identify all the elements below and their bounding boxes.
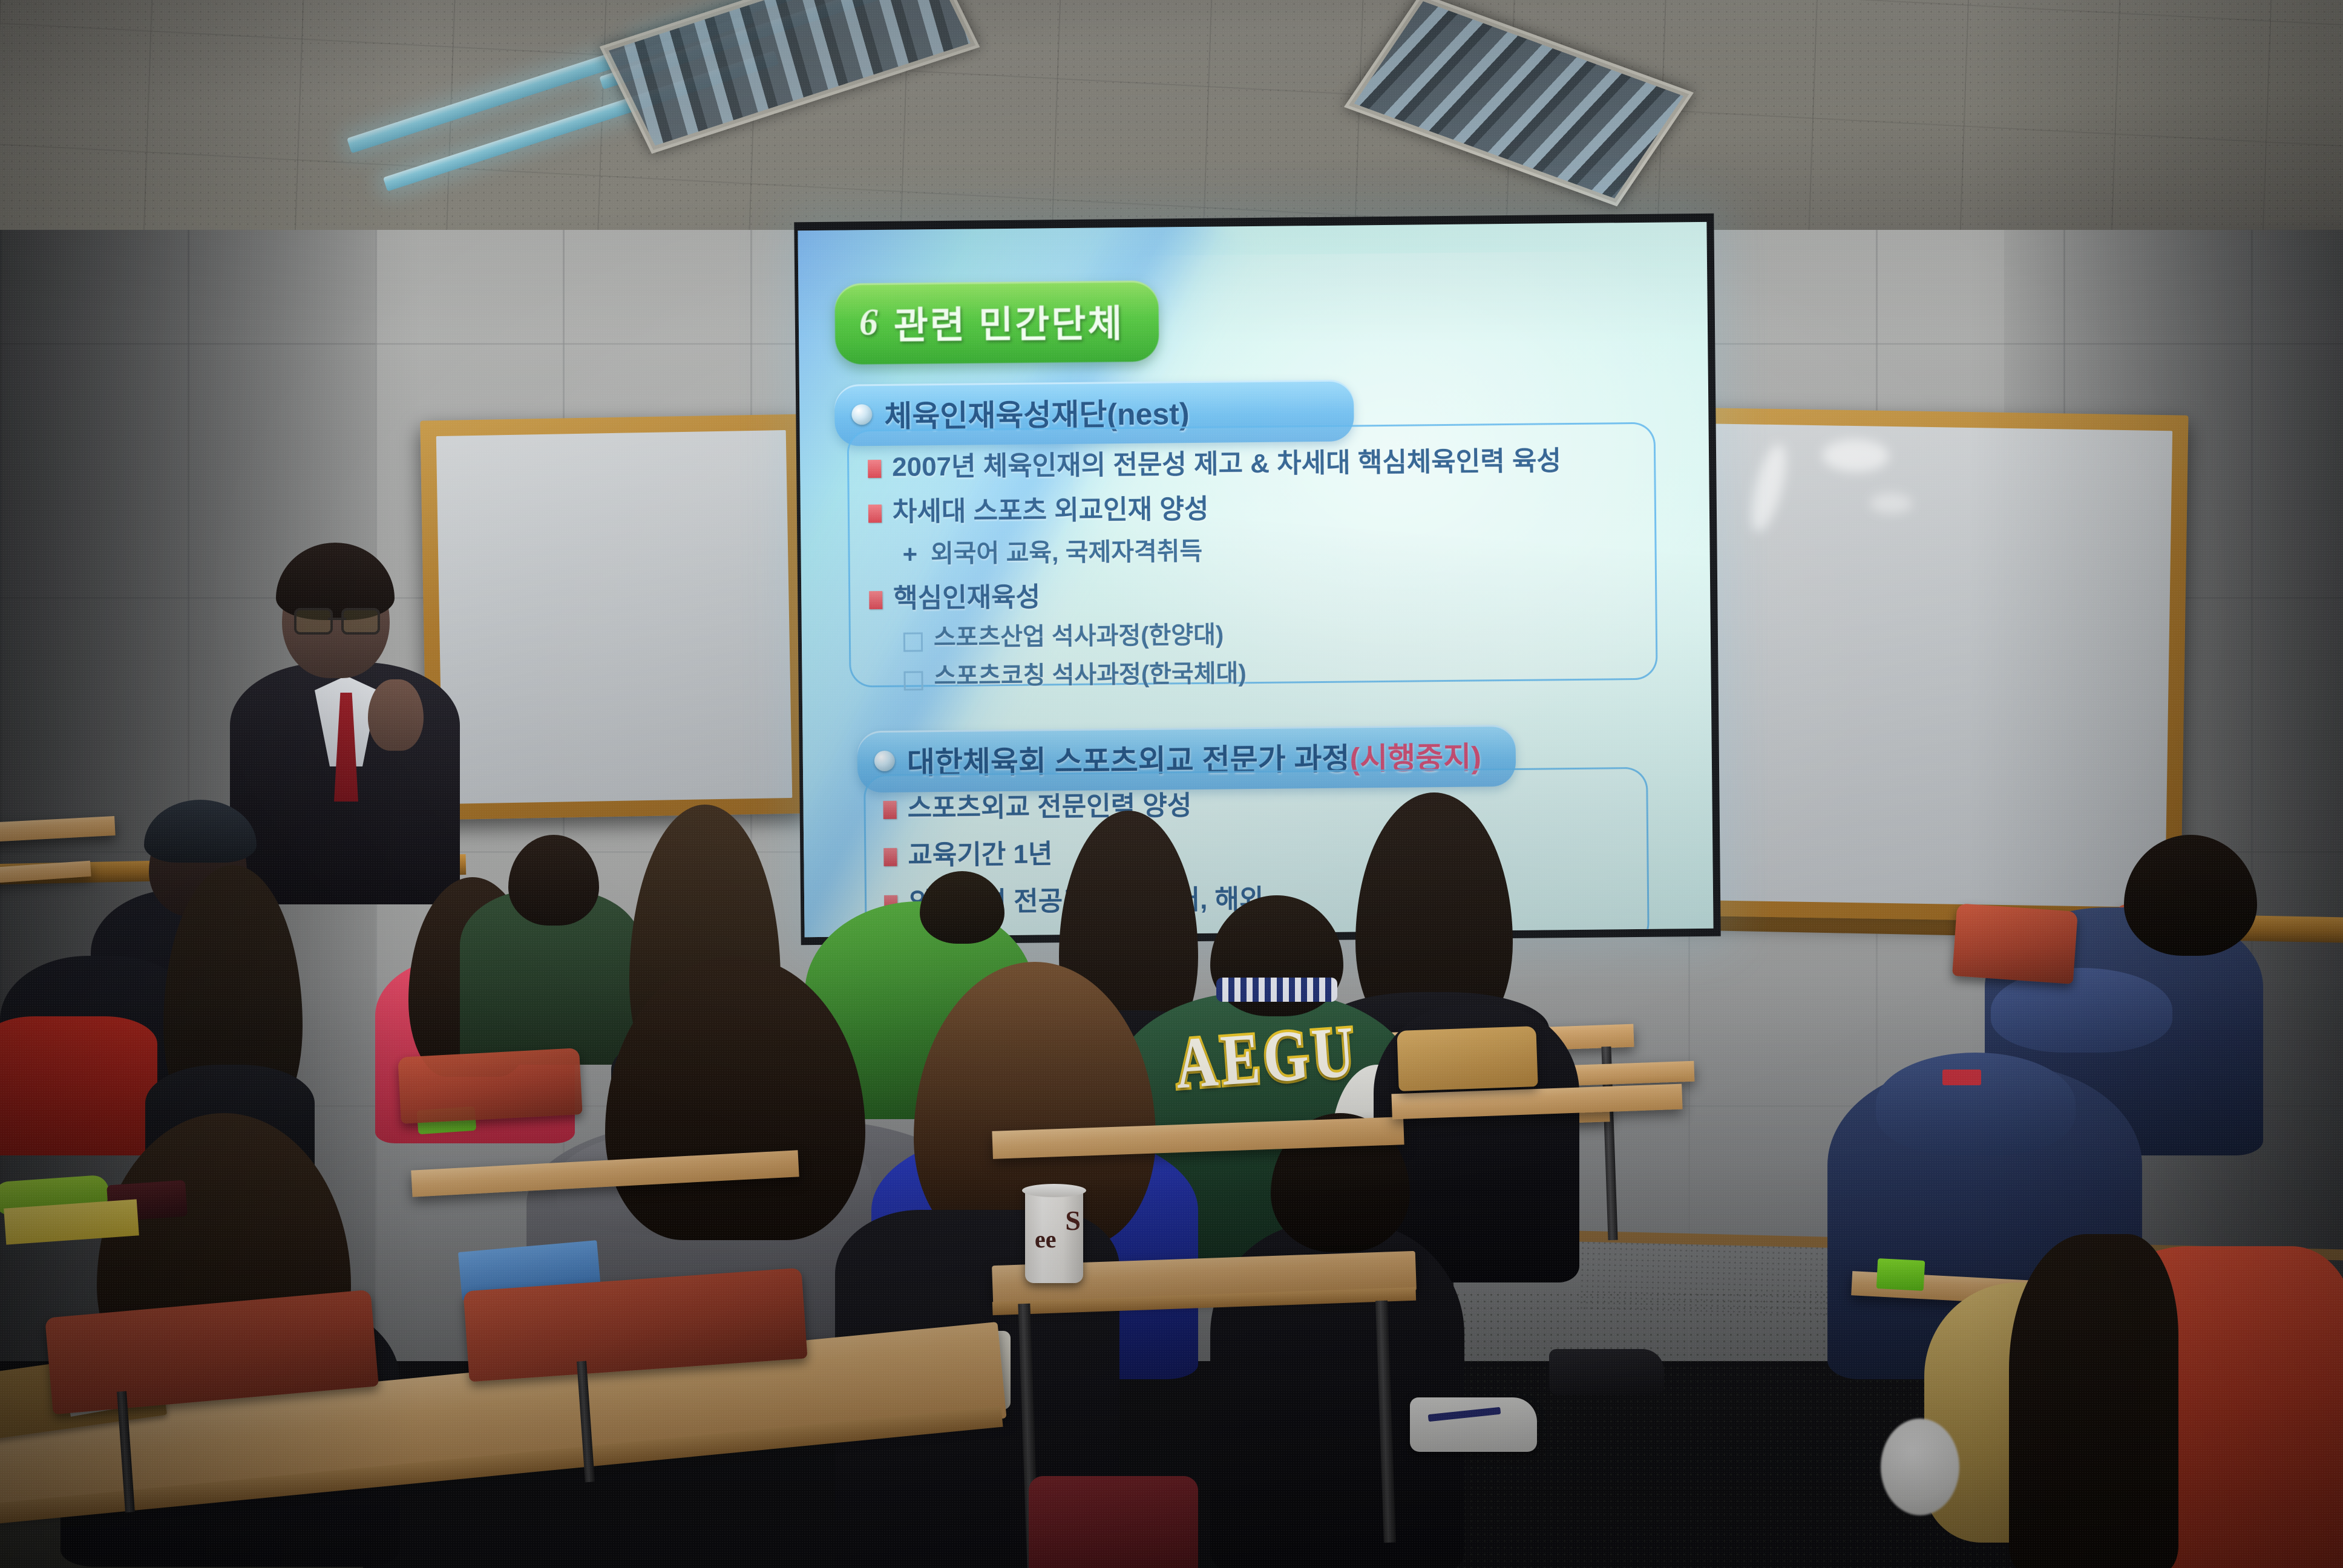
presenter-hand bbox=[368, 679, 424, 751]
student-head bbox=[920, 871, 1004, 944]
eyeglass-lens-left bbox=[294, 608, 333, 635]
whiteboard-glare bbox=[1870, 492, 1913, 514]
checkbox-text: 스포츠코칭 석사과정(한국체대) bbox=[934, 659, 1247, 690]
eyeglasses-icon bbox=[294, 608, 380, 630]
coffee-cup: ee S bbox=[1025, 1187, 1083, 1283]
green-notebook bbox=[1876, 1258, 1925, 1291]
checkbox-icon bbox=[903, 632, 923, 652]
student-jacket bbox=[0, 1016, 157, 1155]
student-head bbox=[2124, 835, 2257, 956]
slide-content: 6 관련 민간단체 체육인재육성재단(nest) 2007년 체육인재의 전문성… bbox=[798, 222, 1713, 937]
eyeglass-bridge bbox=[328, 618, 346, 620]
whiteboard-left bbox=[420, 414, 808, 820]
bullet-text: 차세대 스포츠 외교인재 양성 bbox=[893, 494, 1209, 528]
plus-marker: + bbox=[902, 540, 917, 569]
projected-slide: 6 관련 민간단체 체육인재육성재단(nest) 2007년 체육인재의 전문성… bbox=[798, 222, 1713, 937]
bullet-square-icon bbox=[868, 505, 882, 523]
varsity-collar bbox=[1216, 978, 1337, 1002]
pom-pom bbox=[1881, 1419, 1959, 1515]
projection-screen: 6 관련 민간단체 체육인재육성재단(nest) 2007년 체육인재의 전문성… bbox=[794, 214, 1720, 946]
slide-checkbox-item: 스포츠산업 석사과정(한양대) bbox=[903, 621, 1224, 652]
chair bbox=[1952, 903, 2078, 984]
slide-checkbox-item: 스포츠코칭 석사과정(한국체대) bbox=[903, 659, 1247, 690]
cup-rim bbox=[1022, 1184, 1086, 1197]
bullet-square-icon bbox=[869, 591, 882, 609]
slide-title-number: 6 bbox=[859, 301, 879, 344]
checkbox-icon bbox=[903, 671, 923, 690]
jacket-logo-patch bbox=[1942, 1070, 1981, 1085]
slide-title-text: 관련 민간단체 bbox=[893, 293, 1124, 350]
sneaker bbox=[1410, 1397, 1537, 1452]
slide-subbullet: + 외국어 교육, 국제자격취득 bbox=[902, 537, 1202, 569]
whiteboard-glare bbox=[1822, 439, 1889, 472]
bullet-text: 핵심인재육성 bbox=[893, 582, 1040, 614]
chair bbox=[1397, 1026, 1538, 1091]
baseball-cap-icon bbox=[144, 800, 257, 863]
slide-bullet: 핵심인재육성 bbox=[869, 582, 1040, 614]
student-hair bbox=[2009, 1234, 2178, 1568]
bullet-text: 2007년 체육인재의 전문성 제고 & 차세대 핵심체육인력 육성 bbox=[892, 446, 1561, 483]
chair bbox=[398, 1048, 582, 1124]
backpack bbox=[1029, 1476, 1198, 1568]
cup-logo-text: ee bbox=[1035, 1225, 1057, 1253]
bullet-square-icon bbox=[883, 801, 896, 819]
section-bullet-icon bbox=[874, 751, 895, 771]
classroom-photo: 6 관련 민간단체 체육인재육성재단(nest) 2007년 체육인재의 전문성… bbox=[0, 0, 2343, 1568]
bullet-square-icon bbox=[868, 460, 881, 478]
slide-bullet: 차세대 스포츠 외교인재 양성 bbox=[868, 494, 1209, 528]
bullet-square-icon bbox=[883, 848, 897, 866]
whiteboard-left-surface bbox=[436, 430, 793, 804]
whiteboard-right-surface bbox=[1682, 423, 2172, 907]
student-head bbox=[508, 835, 599, 926]
hood-fold bbox=[1876, 1053, 2076, 1155]
eyeglass-lens-right bbox=[341, 608, 380, 635]
checkbox-text: 스포츠산업 석사과정(한양대) bbox=[934, 621, 1224, 652]
slide-title-banner: 6 관련 민간단체 bbox=[834, 281, 1159, 365]
subbullet-text: 외국어 교육, 국제자격취득 bbox=[931, 537, 1203, 568]
sneaker bbox=[1549, 1349, 1664, 1395]
student-hair bbox=[605, 956, 865, 1240]
cup-logo-text-secondary: S bbox=[1065, 1204, 1081, 1236]
student bbox=[1210, 1113, 1464, 1568]
section-bullet-icon bbox=[851, 404, 872, 425]
whiteboard-glare bbox=[1744, 441, 1793, 535]
